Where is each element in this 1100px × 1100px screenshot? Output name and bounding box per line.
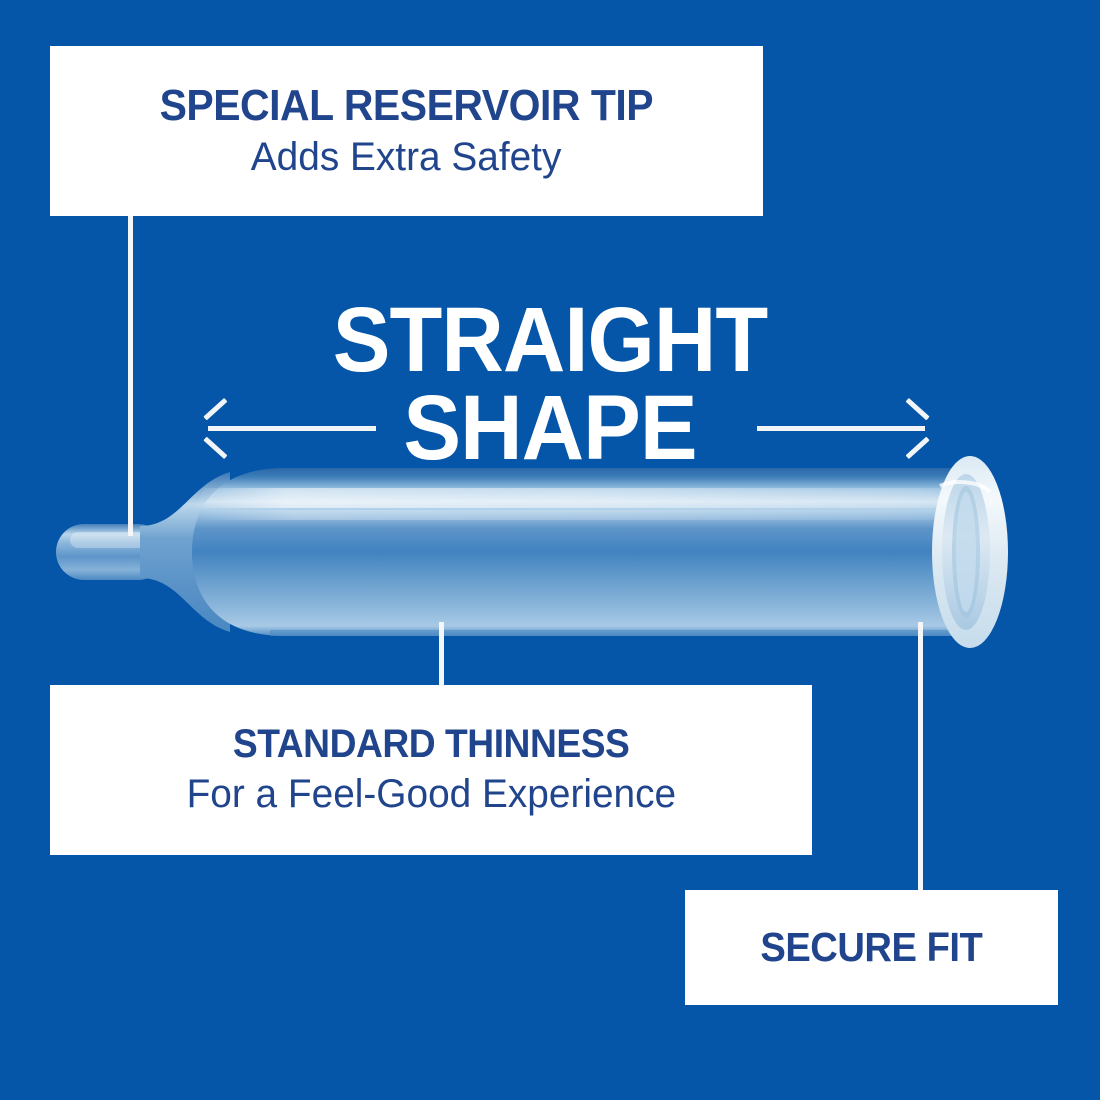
infographic-canvas: STRAIGHT SHAPE bbox=[0, 0, 1100, 1100]
connector-line-secure-fit bbox=[918, 622, 923, 892]
callout-secure-fit-title: SECURE FIT bbox=[760, 926, 982, 969]
connector-line-standard-thinness bbox=[439, 622, 444, 687]
callout-reservoir-tip-subtitle: Adds Extra Safety bbox=[251, 135, 562, 180]
rolled-rim-ring bbox=[932, 456, 1008, 648]
headline: STRAIGHT SHAPE bbox=[0, 296, 1100, 473]
callout-reservoir-tip-title: SPECIAL RESERVOIR TIP bbox=[160, 83, 654, 129]
body-bottom-edge bbox=[270, 630, 970, 636]
callout-secure-fit: SECURE FIT bbox=[685, 890, 1058, 1005]
connector-line-reservoir-tip bbox=[128, 214, 133, 536]
callout-standard-thinness-subtitle: For a Feel-Good Experience bbox=[186, 772, 676, 817]
body-highlight-band bbox=[190, 488, 980, 520]
arrow-right-icon bbox=[757, 426, 925, 431]
callout-standard-thinness: STANDARD THINNESS For a Feel-Good Experi… bbox=[50, 685, 812, 855]
callout-reservoir-tip: SPECIAL RESERVOIR TIP Adds Extra Safety bbox=[50, 46, 763, 216]
callout-standard-thinness-title: STANDARD THINNESS bbox=[233, 723, 629, 765]
arrow-left-icon bbox=[208, 426, 376, 431]
headline-line-1: STRAIGHT bbox=[33, 296, 1067, 384]
